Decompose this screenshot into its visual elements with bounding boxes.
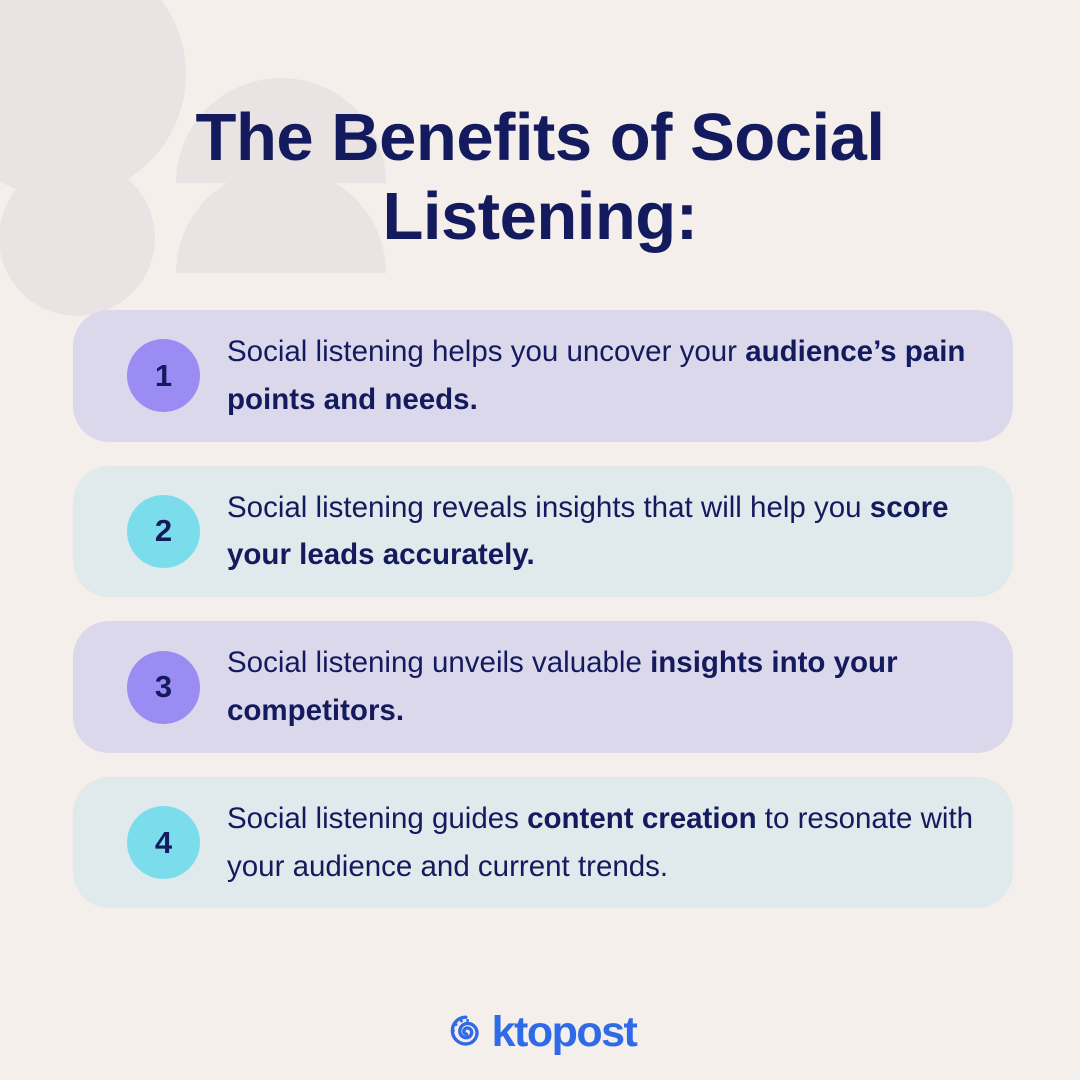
benefit-card: 3 Social listening unveils valuable insi… (73, 621, 1013, 753)
page-title-line-2: Listening: (382, 179, 697, 254)
brand-footer: ktopost (0, 1009, 1080, 1053)
benefit-card: 2 Social listening reveals insights that… (73, 466, 1013, 598)
benefit-text: Social listening unveils valuable insigh… (227, 639, 983, 735)
benefit-card-list: 1 Social listening helps you uncover you… (0, 310, 1080, 908)
benefit-text: Social listening guides content creation… (227, 795, 983, 891)
page-title-line-1: The Benefits of Social (196, 100, 885, 175)
benefit-number-badge: 4 (127, 806, 200, 879)
benefit-number-badge: 2 (127, 495, 200, 568)
benefit-text: Social listening reveals insights that w… (227, 484, 983, 580)
oktopost-spiral-icon (444, 1009, 488, 1053)
benefit-number-badge: 1 (127, 339, 200, 412)
benefit-text: Social listening helps you uncover your … (227, 328, 983, 424)
infographic-page: The Benefits of Social Listening: 1 Soci… (0, 0, 1080, 1080)
benefit-card: 4 Social listening guides content creati… (73, 777, 1013, 909)
benefit-card: 1 Social listening helps you uncover you… (73, 310, 1013, 442)
benefit-number-badge: 3 (127, 651, 200, 724)
page-title: The Benefits of Social Listening: (0, 98, 1080, 256)
brand-wordmark: ktopost (492, 1011, 637, 1054)
